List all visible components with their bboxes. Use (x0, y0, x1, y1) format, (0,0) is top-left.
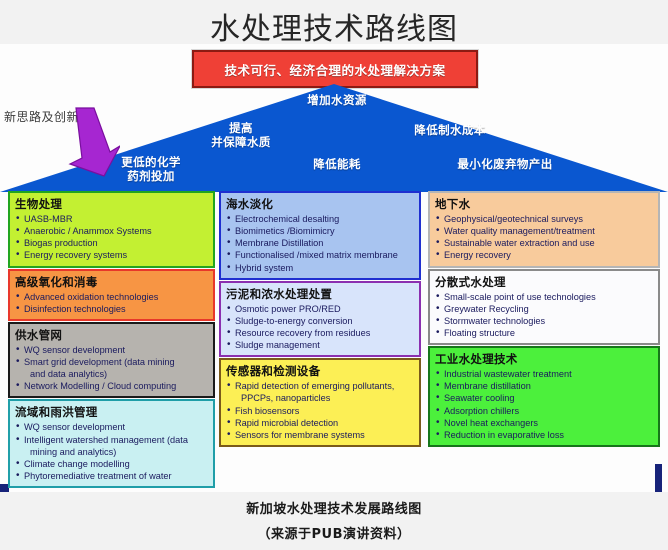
card-item-list: Small-scale point of use technologies Gr… (435, 291, 653, 340)
diagram-canvas: 技术可行、经济合理的水处理解决方案 增加水资源 提高 并保障水质 降低制水成本 … (0, 44, 668, 492)
card-title: 供水管网 (15, 327, 208, 343)
pyramid-label-increase-water-resources: 增加水资源 (282, 94, 392, 108)
technology-columns: 生物处理 UASB-MBR Anaerobic / Anammox System… (0, 191, 668, 488)
column-left: 生物处理 UASB-MBR Anaerobic / Anammox System… (8, 191, 215, 489)
list-item: Rapid microbial detection (226, 417, 414, 429)
card-title: 污泥和浓水处理处置 (226, 286, 414, 302)
card-water-supply-network[interactable]: 供水管网 WQ sensor development Smart grid de… (8, 322, 215, 399)
list-item: Floating structure (435, 327, 653, 339)
list-item: Functionalised /mixed matrix membrane (226, 249, 414, 261)
card-title: 工业水处理技术 (435, 351, 653, 367)
list-item: Sludge-to-energy conversion (226, 315, 414, 327)
card-title: 地下水 (435, 196, 653, 212)
list-item: Membrane distillation (435, 380, 653, 392)
list-item: Adsorption chillers (435, 405, 653, 417)
card-advanced-oxidation[interactable]: 高级氧化和消毒 Advanced oxidation technologies … (8, 269, 215, 321)
card-item-list: Osmotic power PRO/RED Sludge-to-energy c… (226, 303, 414, 352)
pyramid-label-lower-production-cost: 降低制水成本 (390, 124, 510, 138)
card-title: 生物处理 (15, 196, 208, 212)
list-item: Rapid detection of emerging pollutants, (226, 380, 414, 392)
card-item-list: UASB-MBR Anaerobic / Anammox Systems Bio… (15, 213, 208, 262)
card-watershed-stormwater[interactable]: 流域和雨洪管理 WQ sensor development Intelligen… (8, 399, 215, 488)
card-industrial[interactable]: 工业水处理技术 Industrial wastewater treatment … (428, 346, 660, 447)
list-item: Intelligent watershed management (data (15, 434, 208, 446)
list-item: Resource recovery from residues (226, 327, 414, 339)
list-item: Smart grid development (data mining (15, 356, 208, 368)
card-title: 传感器和检测设备 (226, 363, 414, 379)
card-title: 流域和雨洪管理 (15, 404, 208, 420)
list-item: Sustainable water extraction and use (435, 237, 653, 249)
card-desalination[interactable]: 海水淡化 Electrochemical desalting Biomimeti… (219, 191, 421, 280)
column-right: 地下水 Geophysical/geotechnical surveys Wat… (428, 191, 660, 448)
card-item-list: Electrochemical desalting Biomimetics /B… (226, 213, 414, 274)
list-item: Seawater cooling (435, 392, 653, 404)
caption-line-2: （来源于PUB演讲资料） (0, 523, 668, 542)
list-item: Sludge management (226, 339, 414, 351)
list-item: Geophysical/geotechnical surveys (435, 213, 653, 225)
card-item-list: WQ sensor development Intelligent waters… (15, 421, 208, 482)
list-item: Greywater Recycling (435, 303, 653, 315)
card-title: 分散式水处理 (435, 274, 653, 290)
card-biological-treatment[interactable]: 生物处理 UASB-MBR Anaerobic / Anammox System… (8, 191, 215, 268)
list-item: Phytoremediative treatment of water (15, 470, 208, 482)
list-item: Membrane Distillation (226, 237, 414, 249)
list-item: Novel heat exchangers (435, 417, 653, 429)
list-item: Biogas production (15, 237, 208, 249)
pyramid-label-improve-water-quality: 提高 并保障水质 (196, 122, 286, 149)
list-item: Energy recovery systems (15, 249, 208, 261)
list-item: Electrochemical desalting (226, 213, 414, 225)
list-item: Sensors for membrane systems (226, 429, 414, 441)
list-item: Small-scale point of use technologies (435, 291, 653, 303)
column-middle: 海水淡化 Electrochemical desalting Biomimeti… (219, 191, 421, 448)
list-item: Anaerobic / Anammox Systems (15, 225, 208, 237)
list-item: Stormwater technologies (435, 315, 653, 327)
list-item: WQ sensor development (15, 421, 208, 433)
card-item-list: Advanced oxidation technologies Disinfec… (15, 291, 208, 315)
down-right-arrow-icon (60, 106, 120, 178)
card-sludge-brine[interactable]: 污泥和浓水处理处置 Osmotic power PRO/RED Sludge-t… (219, 281, 421, 358)
page-title: 水处理技术路线图 (0, 4, 668, 48)
roadmap-page: 水处理技术路线图 技术可行、经济合理的水处理解决方案 增加水资源 提高 并保障水… (0, 0, 668, 550)
list-item: Advanced oxidation technologies (15, 291, 208, 303)
list-item-continuation: mining and analytics) (15, 446, 208, 458)
list-item: Biomimetics /Biomimicry (226, 225, 414, 237)
list-item-continuation: PPCPs, nanoparticles (226, 392, 414, 404)
list-item: Industrial wastewater treatment (435, 368, 653, 380)
card-item-list: WQ sensor development Smart grid develop… (15, 344, 208, 393)
list-item: Reduction in evaporative loss (435, 429, 653, 441)
card-item-list: Industrial wastewater treatment Membrane… (435, 368, 653, 441)
goal-box-label: 技术可行、经济合理的水处理解决方案 (224, 60, 445, 79)
card-title: 海水淡化 (226, 196, 414, 212)
list-item: UASB-MBR (15, 213, 208, 225)
caption-line-1: 新加坡水处理技术发展路线图 (0, 498, 668, 517)
list-item: Energy recovery (435, 249, 653, 261)
pyramid-label-lower-energy-use: 降低能耗 (282, 158, 392, 172)
card-item-list: Rapid detection of emerging pollutants, … (226, 380, 414, 441)
list-item: Osmotic power PRO/RED (226, 303, 414, 315)
list-item: Climate change modelling (15, 458, 208, 470)
caption: 新加坡水处理技术发展路线图 （来源于PUB演讲资料） (0, 498, 668, 542)
pyramid-label-minimise-waste: 最小化废弃物产出 (430, 158, 580, 172)
card-groundwater[interactable]: 地下水 Geophysical/geotechnical surveys Wat… (428, 191, 660, 268)
card-decentralised[interactable]: 分散式水处理 Small-scale point of use technolo… (428, 269, 660, 346)
list-item: Hybrid system (226, 262, 414, 274)
list-item: Fish biosensors (226, 405, 414, 417)
list-item: Network Modelling / Cloud computing (15, 380, 208, 392)
card-sensors-detection[interactable]: 传感器和检测设备 Rapid detection of emerging pol… (219, 358, 421, 447)
list-item: Water quality management/treatment (435, 225, 653, 237)
list-item: WQ sensor development (15, 344, 208, 356)
goal-box: 技术可行、经济合理的水处理解决方案 (192, 50, 478, 88)
list-item: Disinfection technologies (15, 303, 208, 315)
card-title: 高级氧化和消毒 (15, 274, 208, 290)
list-item-continuation: and data analytics) (15, 368, 208, 380)
card-item-list: Geophysical/geotechnical surveys Water q… (435, 213, 653, 262)
